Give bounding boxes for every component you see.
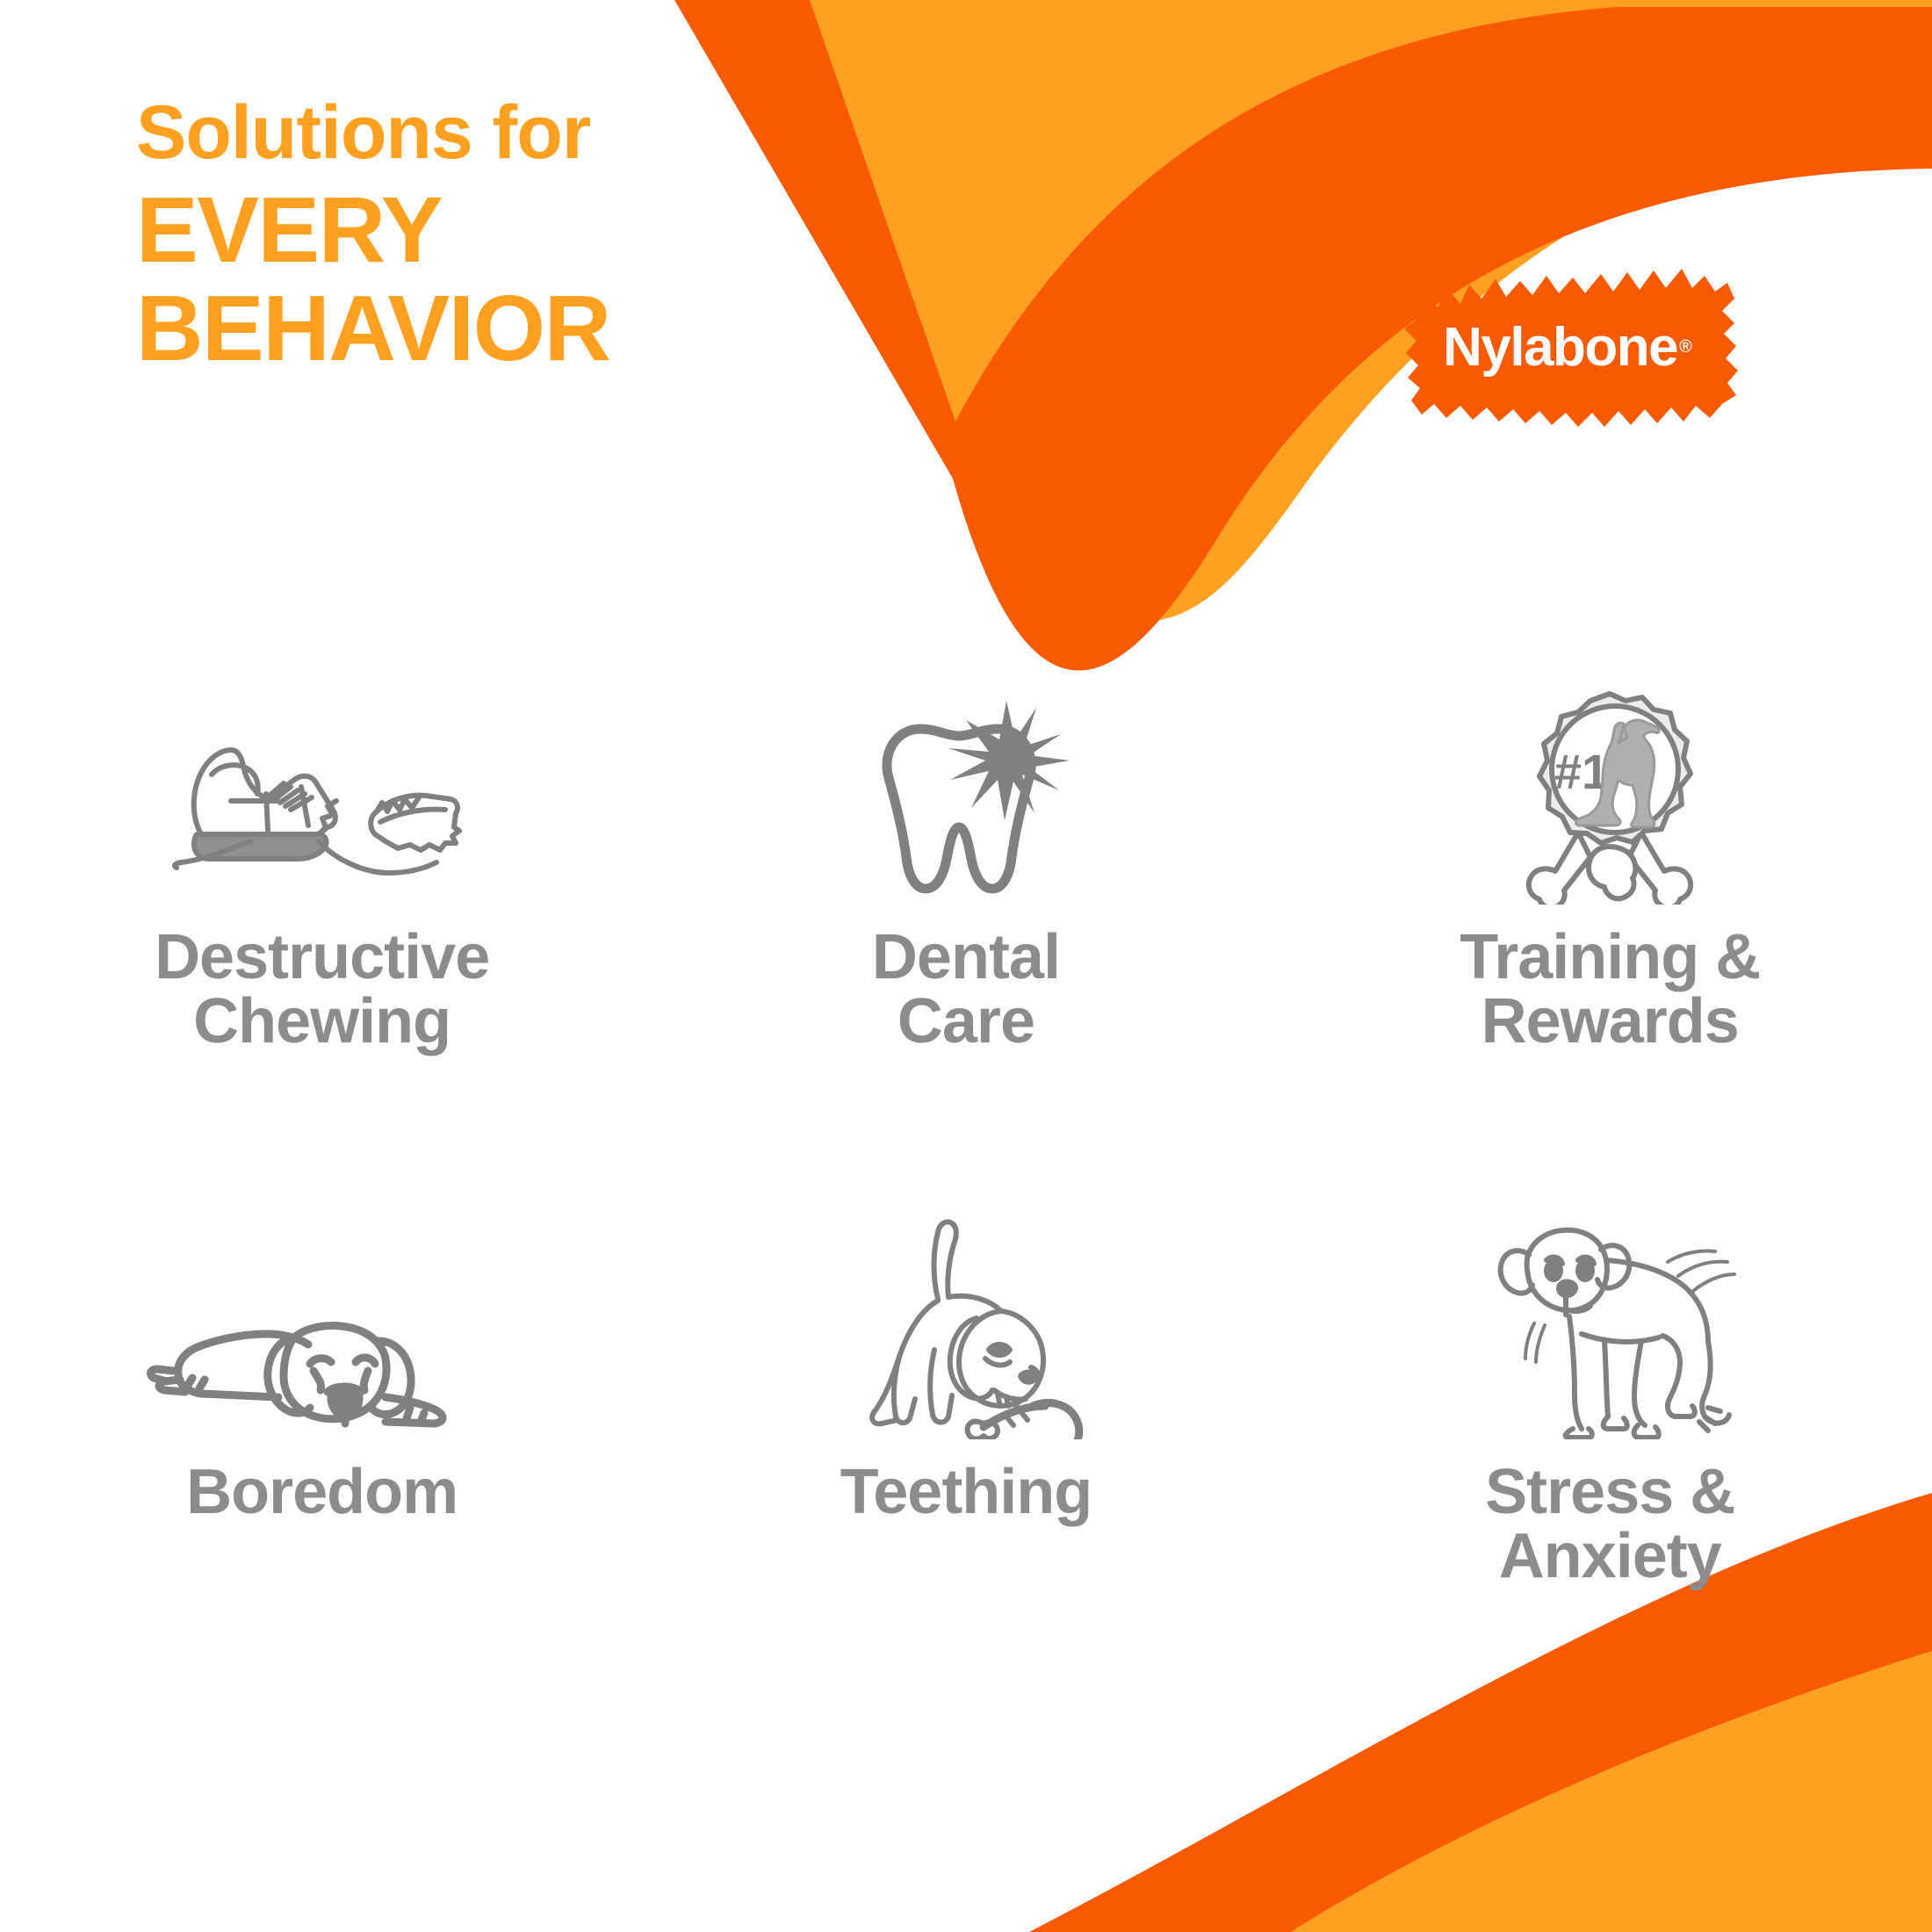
poster-canvas: Solutions for EVERY BEHAVIOR Nylabone®	[0, 0, 1932, 1932]
behavior-item-stress-anxiety[interactable]: Stress & Anxiety	[1288, 1202, 1932, 1590]
behavior-item-dental-care[interactable]: Dental Care	[644, 685, 1287, 1055]
behavior-icon-grid: Destructive Chewing Dental Care	[0, 685, 1932, 1590]
brush-stroke-bone-icon	[1383, 246, 1752, 448]
award-ribbon-icon: #1	[1487, 685, 1733, 905]
headline-line-3: BEHAVIOR	[136, 279, 610, 378]
chewed-shoe-icon	[147, 685, 498, 905]
headline-line-1: Solutions for	[136, 95, 610, 170]
behavior-label: Stress & Anxiety	[1485, 1460, 1734, 1590]
bored-puppy-icon	[147, 1202, 498, 1439]
behavior-item-training-rewards[interactable]: #1 Training & Rewards	[1288, 685, 1932, 1055]
behavior-item-boredom[interactable]: Boredom	[0, 1202, 644, 1590]
behavior-label: Destructive Chewing	[155, 926, 489, 1055]
sparkling-tooth-icon	[834, 685, 1098, 905]
behavior-row-1: Destructive Chewing Dental Care	[0, 685, 1932, 1055]
nylabone-logo: Nylabone®	[1383, 246, 1752, 448]
behavior-item-destructive-chewing[interactable]: Destructive Chewing	[0, 685, 644, 1055]
behavior-item-teething[interactable]: Teething	[644, 1202, 1287, 1590]
anxious-dog-icon	[1478, 1202, 1741, 1439]
headline-block: Solutions for EVERY BEHAVIOR	[136, 95, 610, 378]
bottom-swoosh-light-icon	[1291, 1651, 1932, 1932]
teething-puppy-icon	[834, 1202, 1098, 1439]
behavior-label: Boredom	[186, 1460, 458, 1525]
headline-line-2: EVERY	[136, 181, 610, 279]
behavior-row-2: Boredom	[0, 1202, 1932, 1590]
behavior-label: Teething	[840, 1460, 1092, 1525]
behavior-label: Dental Care	[872, 926, 1060, 1055]
behavior-label: Training & Rewards	[1460, 926, 1760, 1055]
